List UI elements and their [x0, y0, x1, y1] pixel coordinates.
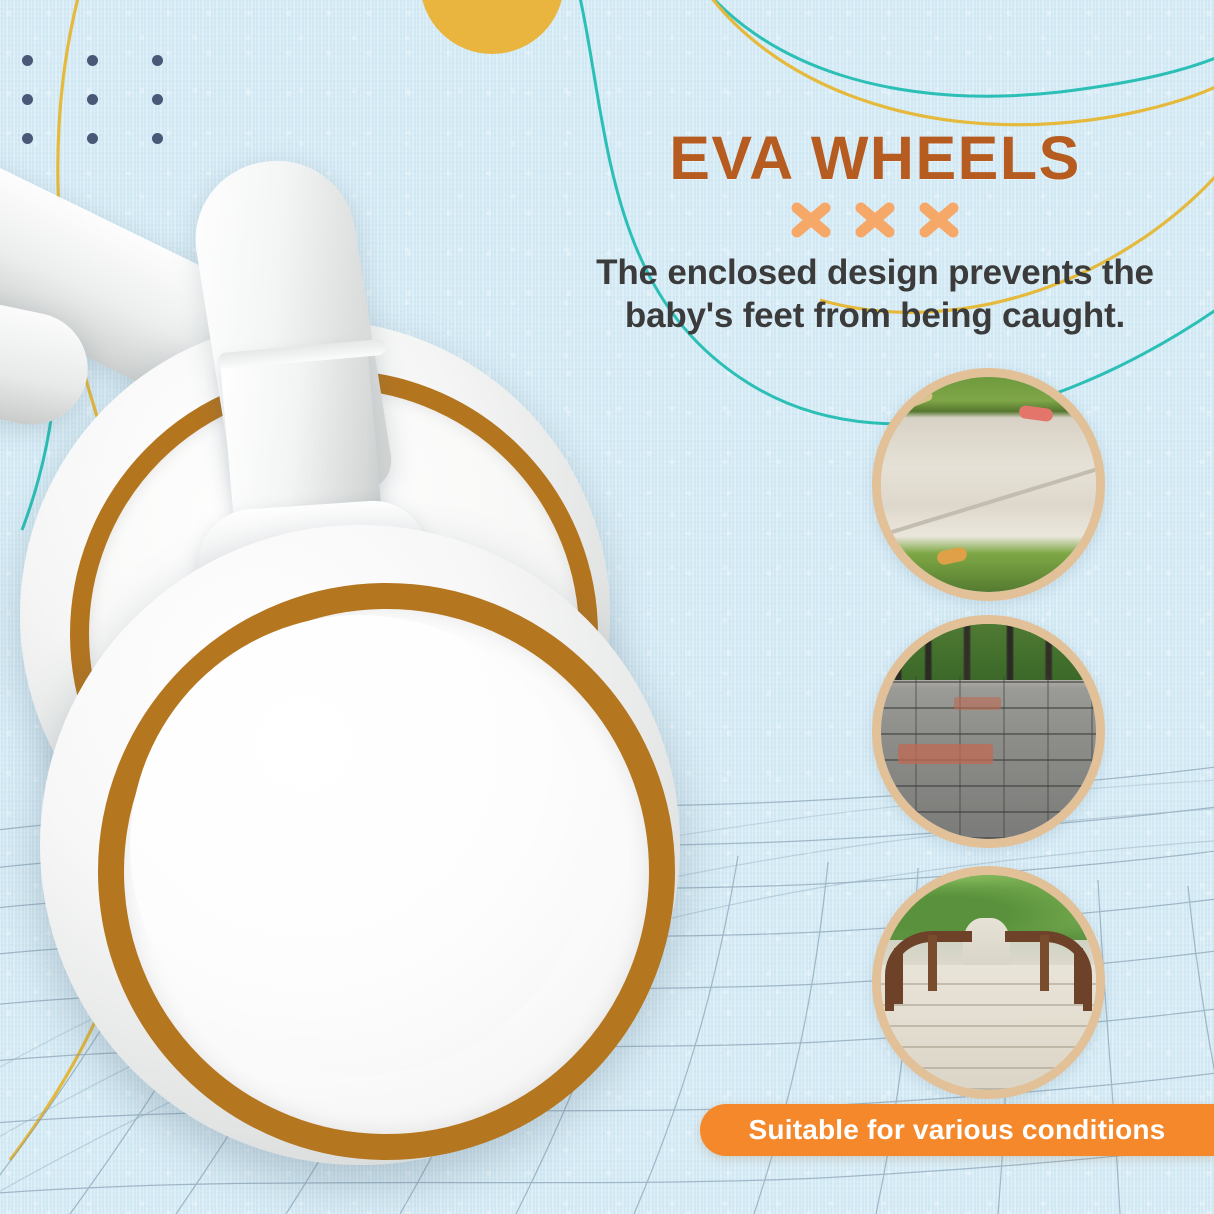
- fallen-leaf: [906, 390, 934, 409]
- railing-post: [1074, 948, 1083, 1004]
- tree-line: [881, 624, 1096, 680]
- grid-dot: [152, 55, 163, 66]
- yellow-curve-1: [700, 0, 1214, 125]
- grid-dot: [87, 133, 98, 144]
- conditions-banner-label: Suitable for various conditions: [749, 1114, 1166, 1146]
- fallen-leaf: [1018, 405, 1053, 423]
- sidewalk-scene: [881, 377, 1096, 592]
- grid-dot: [87, 55, 98, 66]
- dot-grid: [22, 55, 217, 172]
- subtitle-line-1: The enclosed design prevents the: [596, 253, 1154, 292]
- red-paver-band: [954, 697, 1001, 710]
- headline-block: EVA WHEELS The enclosed design prevents …: [555, 126, 1195, 337]
- sidewalk-seam: [872, 457, 1105, 543]
- grid-dot: [22, 55, 33, 66]
- grid-dot: [22, 94, 33, 105]
- promo-banner-image: ne EVA WHEELS The enclosed design preven…: [0, 0, 1214, 1214]
- front-wheel-hub: [130, 615, 590, 1075]
- photo-wooden-bridge: [872, 866, 1105, 1099]
- teal-curve-2: [690, 0, 1214, 96]
- subtitle: The enclosed design prevents the baby's …: [555, 252, 1195, 337]
- grid-dot: [22, 133, 33, 144]
- page-title: EVA WHEELS: [555, 126, 1195, 190]
- photo-concrete-sidewalk: [872, 368, 1105, 601]
- railing-post: [894, 948, 903, 1004]
- red-paver-band: [898, 744, 993, 763]
- subtitle-line-2: baby's feet from being caught.: [625, 296, 1125, 335]
- conditions-banner: Suitable for various conditions: [700, 1104, 1214, 1156]
- railing-post: [928, 935, 937, 991]
- x-marks-icon: [787, 198, 963, 242]
- photo-brick-pavement: [872, 615, 1105, 848]
- brick-scene: [881, 624, 1096, 839]
- grid-dot: [152, 94, 163, 105]
- fallen-leaf: [936, 546, 968, 566]
- grid-dot: [87, 94, 98, 105]
- yellow-circle: [420, 0, 564, 54]
- bridge-scene: [881, 875, 1096, 1090]
- railing-post: [1040, 935, 1049, 991]
- grid-dot: [152, 133, 163, 144]
- x-mark-divider: [555, 198, 1195, 242]
